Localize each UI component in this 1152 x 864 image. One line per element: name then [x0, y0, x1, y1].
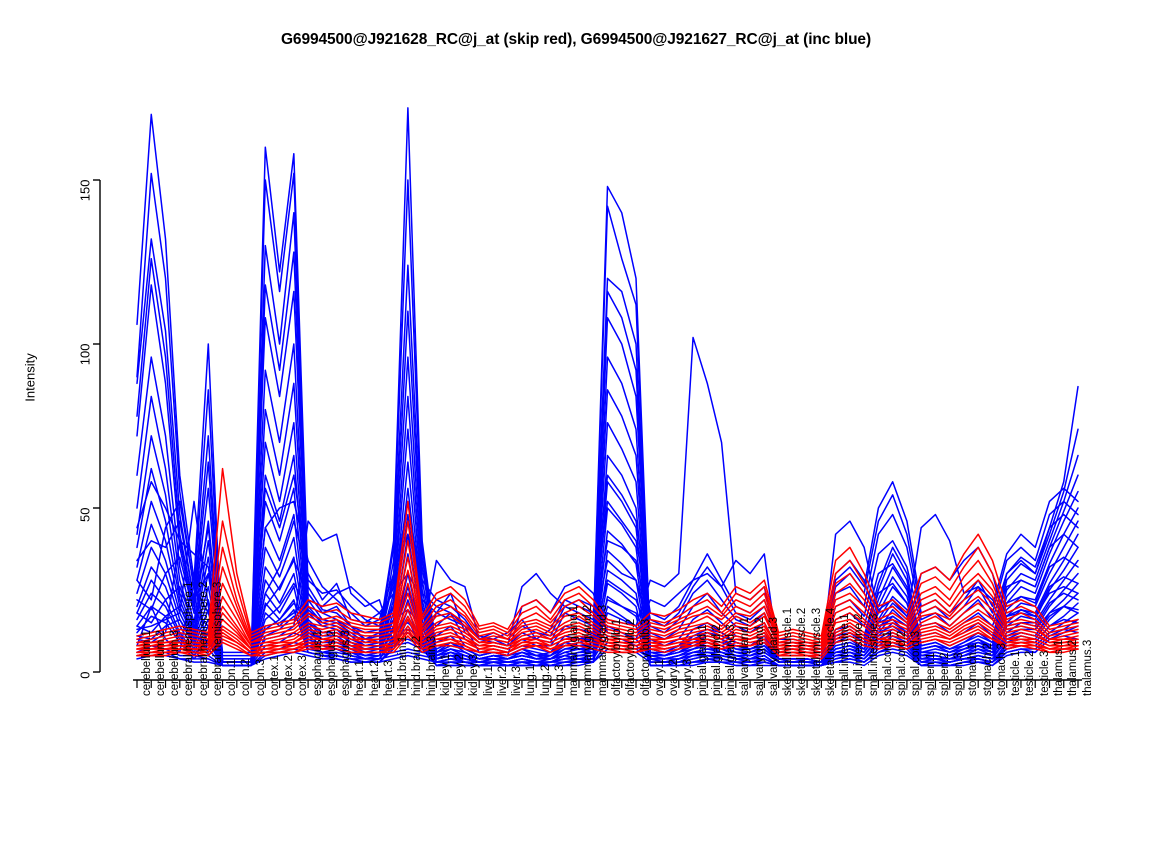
- x-tick-label: ovary.3: [683, 659, 695, 696]
- x-tick-label: heart.1: [355, 660, 367, 696]
- x-tick-label: cerebellum.3: [170, 630, 182, 696]
- x-tick-label: spinal.cord.2: [897, 631, 909, 696]
- x-tick-label: liver.3: [512, 666, 524, 696]
- x-tick-label: liver.1: [484, 666, 496, 696]
- x-tick-label: cerebellum.2: [156, 630, 168, 696]
- x-tick-label: esophagus.3: [341, 630, 353, 696]
- x-tick-label: salivary.gland.1: [740, 617, 752, 696]
- x-tick-label: mammary.gland.2: [583, 605, 595, 696]
- x-tick-label: testicle.1: [1011, 651, 1023, 696]
- x-tick-label: lung.2: [541, 665, 553, 696]
- x-tick-label: pineal.gland.3: [726, 624, 738, 696]
- x-tick-label: skeletal.muscle.4: [826, 608, 838, 696]
- x-tick-label: pineal.gland.2: [712, 624, 724, 696]
- x-tick-label: small.intestine.2: [854, 614, 866, 696]
- x-tick-label: skeletal.muscle.2: [797, 608, 809, 696]
- x-tick-label: pineal.gland.1: [698, 624, 710, 696]
- x-tick-label: thalamus.1: [1054, 640, 1066, 696]
- x-tick-labels: cerebellum.1cerebellum.2cerebellum.3cere…: [0, 0, 1152, 864]
- x-tick-label: stomach.3: [997, 643, 1009, 696]
- x-tick-label: cerebral.hemisphere.1: [184, 582, 196, 696]
- x-tick-label: ovary.1: [655, 659, 667, 696]
- x-tick-label: colon.3: [256, 659, 268, 696]
- x-tick-label: small.intestine.3: [869, 614, 881, 696]
- x-tick-label: spleen.2: [940, 653, 952, 696]
- x-tick-label: kidney.2: [455, 654, 467, 696]
- x-tick-label: esophagus.1: [313, 630, 325, 696]
- x-tick-label: thalamus.2: [1068, 640, 1080, 696]
- x-tick-label: olfactory.bulb.1: [612, 619, 624, 696]
- x-tick-label: spinal.cord.3: [911, 631, 923, 696]
- x-tick-label: cerebral.hemisphere.3: [213, 582, 225, 696]
- x-tick-label: spinal.cord.1: [883, 631, 895, 696]
- x-tick-label: lung.1: [526, 665, 538, 696]
- x-tick-label: stomach.1: [968, 643, 980, 696]
- x-tick-label: skeletal.muscle.3: [812, 608, 824, 696]
- x-tick-label: kidney.3: [469, 654, 481, 696]
- x-tick-label: mammary.gland.1: [569, 605, 581, 696]
- x-tick-label: salivary.gland.3: [769, 617, 781, 696]
- x-tick-label: olfactory.bulb.2: [626, 619, 638, 696]
- x-tick-label: cortex.3: [298, 655, 310, 696]
- x-tick-label: kidney.1: [441, 654, 453, 696]
- x-tick-label: cortex.2: [284, 655, 296, 696]
- chart-page: G6994500@J921628_RC@j_at (skip red), G69…: [0, 0, 1152, 864]
- x-tick-label: hind.brain.1: [398, 636, 410, 696]
- x-tick-label: thalamus.3: [1083, 640, 1095, 696]
- x-tick-label: colon.2: [241, 659, 253, 696]
- x-tick-label: olfactory.bulb.3: [641, 619, 653, 696]
- x-tick-label: lung.3: [555, 665, 567, 696]
- x-tick-label: hind.brain.3: [427, 636, 439, 696]
- x-tick-label: liver.2: [498, 666, 510, 696]
- x-tick-label: spleen.3: [954, 653, 966, 696]
- x-tick-label: small.intestine.1: [840, 614, 852, 696]
- x-tick-label: cerebral.hemisphere.2: [199, 582, 211, 696]
- x-tick-label: heart.3: [384, 660, 396, 696]
- x-tick-label: cortex.1: [270, 655, 282, 696]
- x-tick-label: hind.brain.2: [412, 636, 424, 696]
- x-tick-label: cerebellum.1: [142, 630, 154, 696]
- x-tick-label: mammary.gland.3: [598, 605, 610, 696]
- x-tick-label: testicle.3: [1040, 651, 1052, 696]
- x-tick-label: stomach.2: [983, 643, 995, 696]
- x-tick-label: heart.2: [370, 660, 382, 696]
- x-tick-label: testicle.2: [1025, 651, 1037, 696]
- x-tick-label: colon.1: [227, 659, 239, 696]
- x-tick-label: ovary.2: [669, 659, 681, 696]
- x-tick-label: salivary.gland.2: [755, 617, 767, 696]
- x-tick-label: spleen.1: [926, 653, 938, 696]
- x-tick-label: skeletal.muscle.1: [783, 608, 795, 696]
- x-tick-label: esophagus.2: [327, 630, 339, 696]
